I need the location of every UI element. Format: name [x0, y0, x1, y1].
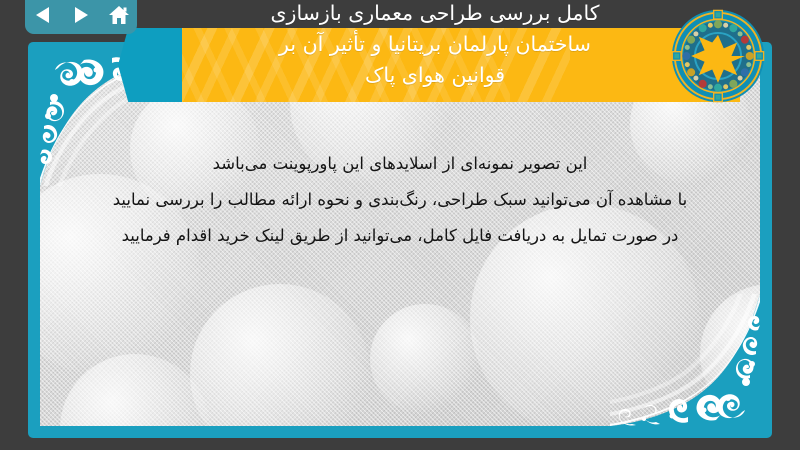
slide-content-area: این تصویر نمونه‌ای از اسلایدهای این پاور…	[40, 54, 760, 426]
title-line-1: کامل بررسی طراحی معماری بازسازی	[200, 0, 670, 29]
body-line-1: این تصویر نمونه‌ای از اسلایدهای این پاور…	[80, 146, 720, 182]
slide-body-text: این تصویر نمونه‌ای از اسلایدهای این پاور…	[80, 146, 720, 254]
slide-viewer: این تصویر نمونه‌ای از اسلایدهای این پاور…	[0, 0, 800, 450]
bokeh-circle	[370, 304, 480, 414]
triangle-right-icon	[73, 6, 89, 24]
body-line-2: با مشاهده آن می‌توانید سبک طراحی، رنگ‌بن…	[80, 182, 720, 218]
slide-frame: این تصویر نمونه‌ای از اسلایدهای این پاور…	[28, 42, 772, 438]
back-button[interactable]	[30, 3, 56, 27]
home-button[interactable]	[106, 3, 132, 27]
mandala-ornament-icon	[670, 8, 766, 104]
forward-button[interactable]	[68, 3, 94, 27]
navigation-bar[interactable]	[25, 0, 137, 34]
home-icon	[108, 5, 130, 25]
body-line-3: در صورت تمایل به دریافت فایل کامل، می‌تو…	[80, 218, 720, 254]
triangle-left-icon	[35, 6, 51, 24]
